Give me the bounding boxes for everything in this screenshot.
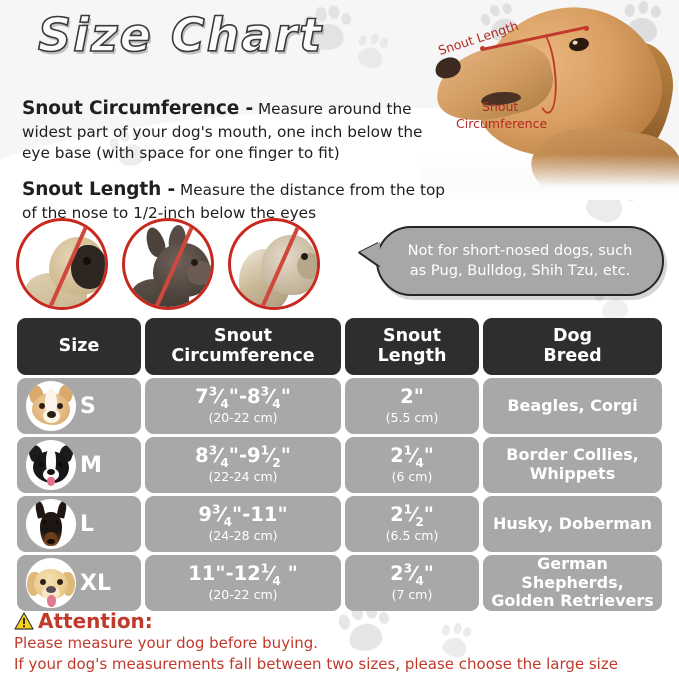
row-circumference-cell: 83⁄4"-91⁄2" (22-24 cm) bbox=[145, 437, 341, 493]
circumference-imperial: 73⁄4"-83⁄4" bbox=[195, 387, 291, 407]
breed-line-2: Golden Retrievers bbox=[491, 591, 654, 610]
doberman-avatar bbox=[26, 499, 76, 549]
circ-den-2: 4 bbox=[272, 574, 280, 588]
row-breed-cell: Border Collies, Whippets bbox=[483, 437, 662, 493]
header-breed-line1: Dog bbox=[553, 326, 592, 346]
table-row: L 93⁄4"-11" (24-28 cm) 21⁄2" (6.5 cm) Hu… bbox=[17, 496, 662, 552]
circumference-metric: (24-28 cm) bbox=[198, 528, 287, 543]
len-whole: 2 bbox=[390, 503, 404, 526]
table-row: XL 11"-121⁄4 " (20-22 cm) 23⁄4" (7 cm) G… bbox=[17, 555, 662, 611]
length-imperial: 23⁄4" bbox=[390, 564, 434, 584]
header-cell-dog-breed: Dog Breed bbox=[483, 318, 662, 375]
snout-circumference-label-line2: Circumference bbox=[456, 117, 547, 131]
circumference-value-group: 83⁄4"-91⁄2" (22-24 cm) bbox=[195, 446, 291, 484]
length-value-group: 2" (5.5 cm) bbox=[386, 387, 439, 425]
circ-whole-1: 7 bbox=[195, 385, 209, 408]
breed-text: Border Collies, Whippets bbox=[500, 446, 644, 484]
avatar-eye-right bbox=[58, 462, 63, 467]
circ-whole-1: 8 bbox=[195, 444, 209, 467]
circumference-value-group: 73⁄4"-83⁄4" (20-22 cm) bbox=[195, 387, 291, 425]
circumference-instruction: Snout Circumference - Measure around the… bbox=[22, 96, 452, 165]
warning-speech-bubble: Not for short-nosed dogs, such as Pug, B… bbox=[376, 226, 664, 296]
table-row: S 73⁄4"-83⁄4" (20-22 cm) 2" (5.5 cm) Bea… bbox=[17, 378, 662, 434]
circ-whole-2: 8 bbox=[247, 385, 261, 408]
avatar-tongue bbox=[47, 595, 56, 607]
corgi-avatar bbox=[26, 381, 76, 431]
breed-line-2: Whippets bbox=[530, 464, 615, 483]
circumference-metric: (20-22 cm) bbox=[188, 587, 298, 602]
row-size-cell: L bbox=[17, 496, 141, 552]
excluded-breed-pug bbox=[16, 218, 108, 310]
length-instruction: Snout Length - Measure the distance from… bbox=[22, 177, 452, 224]
excluded-breed-shih-tzu bbox=[228, 218, 320, 310]
speech-bubble-tail bbox=[360, 242, 380, 266]
header-length-line1: Snout bbox=[383, 326, 441, 346]
circ-den-1: 4 bbox=[220, 456, 228, 470]
header-length-label: Snout Length bbox=[378, 327, 447, 366]
len-whole: 2 bbox=[390, 562, 404, 585]
row-breed-cell: Husky, Doberman bbox=[483, 496, 662, 552]
row-size-cell: S bbox=[17, 378, 141, 434]
length-imperial: 2" bbox=[386, 387, 439, 407]
row-breed-cell: German Shepherds, Golden Retrievers bbox=[483, 555, 662, 611]
circ-whole-1: 11 bbox=[188, 562, 215, 585]
circumference-value-group: 11"-121⁄4 " (20-22 cm) bbox=[188, 564, 298, 602]
bubble-line-2: as Pug, Bulldog, Shih Tzu, etc. bbox=[410, 262, 631, 279]
len-num: 1 bbox=[404, 443, 412, 457]
length-metric: (5.5 cm) bbox=[386, 410, 439, 425]
avatar-eye-left bbox=[40, 579, 46, 585]
breed-line-1: Border Collies, bbox=[506, 445, 638, 464]
avatar-eye-right bbox=[55, 520, 59, 524]
circumference-imperial: 93⁄4"-11" bbox=[198, 505, 287, 525]
len-whole: 2 bbox=[390, 444, 404, 467]
header-cell-size: Size bbox=[17, 318, 141, 375]
circumference-term: Snout Circumference - bbox=[22, 98, 253, 119]
avatar-eye-left bbox=[43, 520, 47, 524]
length-value-group: 23⁄4" (7 cm) bbox=[390, 564, 434, 602]
avatar-eye-left bbox=[39, 462, 44, 467]
pug-eye bbox=[83, 257, 91, 265]
attention-line-2: If your dog's measurements fall between … bbox=[14, 654, 674, 675]
golden-retriever-avatar bbox=[26, 558, 76, 608]
circumference-imperial: 11"-121⁄4 " bbox=[188, 564, 298, 584]
len-den: 4 bbox=[415, 574, 423, 588]
avatar-eye-right bbox=[57, 579, 63, 585]
row-length-cell: 21⁄2" (6.5 cm) bbox=[345, 496, 479, 552]
bubble-line-1: Not for short-nosed dogs, such bbox=[408, 242, 633, 259]
len-den: 2 bbox=[415, 515, 423, 529]
breed-text: Husky, Doberman bbox=[487, 515, 658, 534]
circ-whole-2: 11 bbox=[250, 503, 277, 526]
circumference-value-group: 93⁄4"-11" (24-28 cm) bbox=[198, 505, 287, 543]
frenchie-eye bbox=[191, 259, 198, 266]
circumference-metric: (22-24 cm) bbox=[195, 469, 291, 484]
snout-length-end-dot bbox=[584, 26, 589, 31]
table-row: M 83⁄4"-91⁄2" (22-24 cm) 21⁄4" (6 cm) Bo… bbox=[17, 437, 662, 493]
avatar-eye-right bbox=[57, 403, 63, 409]
row-length-cell: 23⁄4" (7 cm) bbox=[345, 555, 479, 611]
size-chart-infographic: Size Chart Snout Length Snout Circumfere… bbox=[0, 0, 679, 679]
header-breed-label: Dog Breed bbox=[543, 327, 601, 366]
size-label: S bbox=[80, 394, 96, 419]
circ-den-1: 4 bbox=[224, 515, 232, 529]
size-table: Size Snout Circumference Snout Length Do… bbox=[17, 318, 662, 614]
avatar-nose bbox=[46, 586, 56, 593]
header-size-label: Size bbox=[59, 337, 100, 357]
length-metric: (7 cm) bbox=[390, 587, 434, 602]
circ-whole-1: 9 bbox=[198, 503, 212, 526]
circ-den-1: 4 bbox=[220, 397, 228, 411]
row-length-cell: 2" (5.5 cm) bbox=[345, 378, 479, 434]
len-num: 1 bbox=[404, 502, 412, 516]
circ-num-1: 3 bbox=[209, 384, 217, 398]
breed-line-1: Husky, Doberman bbox=[493, 514, 652, 533]
circ-den-2: 2 bbox=[272, 456, 280, 470]
header-circumference-line1: Snout bbox=[214, 326, 272, 346]
photo-bottom-fade bbox=[419, 154, 679, 200]
excluded-breeds-images bbox=[16, 218, 320, 310]
row-circumference-cell: 93⁄4"-11" (24-28 cm) bbox=[145, 496, 341, 552]
len-whole: 2 bbox=[400, 385, 414, 408]
length-value-group: 21⁄4" (6 cm) bbox=[390, 446, 434, 484]
header-breed-line2: Breed bbox=[543, 346, 601, 366]
warning-triangle-icon bbox=[14, 612, 34, 630]
length-imperial: 21⁄2" bbox=[386, 505, 439, 525]
avatar-nose bbox=[47, 411, 56, 418]
row-length-cell: 21⁄4" (6 cm) bbox=[345, 437, 479, 493]
snout-length-start-dot bbox=[480, 46, 485, 51]
length-term: Snout Length - bbox=[22, 179, 175, 200]
circumference-metric: (20-22 cm) bbox=[195, 410, 291, 425]
row-size-cell: M bbox=[17, 437, 141, 493]
speech-bubble-text: Not for short-nosed dogs, such as Pug, B… bbox=[394, 241, 647, 280]
row-size-cell: XL bbox=[17, 555, 141, 611]
avatar-nose bbox=[47, 539, 55, 544]
row-circumference-cell: 11"-121⁄4 " (20-22 cm) bbox=[145, 555, 341, 611]
length-metric: (6.5 cm) bbox=[386, 528, 439, 543]
page-title: Size Chart bbox=[38, 8, 323, 62]
attention-line-1: Please measure your dog before buying. bbox=[14, 633, 674, 654]
header-circumference-label: Snout Circumference bbox=[171, 327, 314, 366]
circ-num-1: 3 bbox=[209, 443, 217, 457]
circumference-imperial: 83⁄4"-91⁄2" bbox=[195, 446, 291, 466]
size-label: XL bbox=[80, 571, 111, 596]
header-length-line2: Length bbox=[378, 346, 447, 366]
breed-line-1: German Shepherds, bbox=[521, 554, 623, 592]
circ-whole-2: 9 bbox=[247, 444, 261, 467]
length-value-group: 21⁄2" (6.5 cm) bbox=[386, 505, 439, 543]
breed-text: Beagles, Corgi bbox=[501, 397, 643, 416]
header-cell-snout-length: Snout Length bbox=[345, 318, 479, 375]
attention-heading: Attention: bbox=[14, 609, 674, 633]
avatar-eye-left bbox=[39, 403, 45, 409]
circ-whole-2: 12 bbox=[234, 562, 261, 585]
row-breed-cell: Beagles, Corgi bbox=[483, 378, 662, 434]
breed-text: German Shepherds, Golden Retrievers bbox=[483, 555, 662, 612]
header-circumference-line2: Circumference bbox=[171, 346, 314, 366]
circ-num-1: 3 bbox=[212, 502, 220, 516]
circ-num-2: 1 bbox=[261, 443, 269, 457]
size-label: L bbox=[80, 512, 94, 537]
measurement-instructions: Snout Circumference - Measure around the… bbox=[22, 96, 452, 224]
circ-num-2: 3 bbox=[261, 384, 269, 398]
circ-num-2: 1 bbox=[261, 561, 269, 575]
row-circumference-cell: 73⁄4"-83⁄4" (20-22 cm) bbox=[145, 378, 341, 434]
length-imperial: 21⁄4" bbox=[390, 446, 434, 466]
header-cell-snout-circumference: Snout Circumference bbox=[145, 318, 341, 375]
attention-footer: Attention: Please measure your dog befor… bbox=[14, 609, 674, 676]
avatar-nose bbox=[47, 469, 55, 475]
breed-line-1: Beagles, Corgi bbox=[507, 396, 637, 415]
avatar-tongue bbox=[47, 477, 55, 486]
snout-circumference-label-line1: Snout bbox=[482, 100, 518, 114]
length-metric: (6 cm) bbox=[390, 469, 434, 484]
len-den: 4 bbox=[415, 456, 423, 470]
shihtzu-eye bbox=[301, 253, 308, 260]
attention-title: Attention: bbox=[38, 609, 153, 633]
size-label: M bbox=[80, 453, 102, 478]
table-header-row: Size Snout Circumference Snout Length Do… bbox=[17, 318, 662, 375]
circ-den-2: 4 bbox=[272, 397, 280, 411]
excluded-breed-french-bulldog bbox=[122, 218, 214, 310]
border-collie-avatar bbox=[26, 440, 76, 490]
len-num: 3 bbox=[404, 561, 412, 575]
